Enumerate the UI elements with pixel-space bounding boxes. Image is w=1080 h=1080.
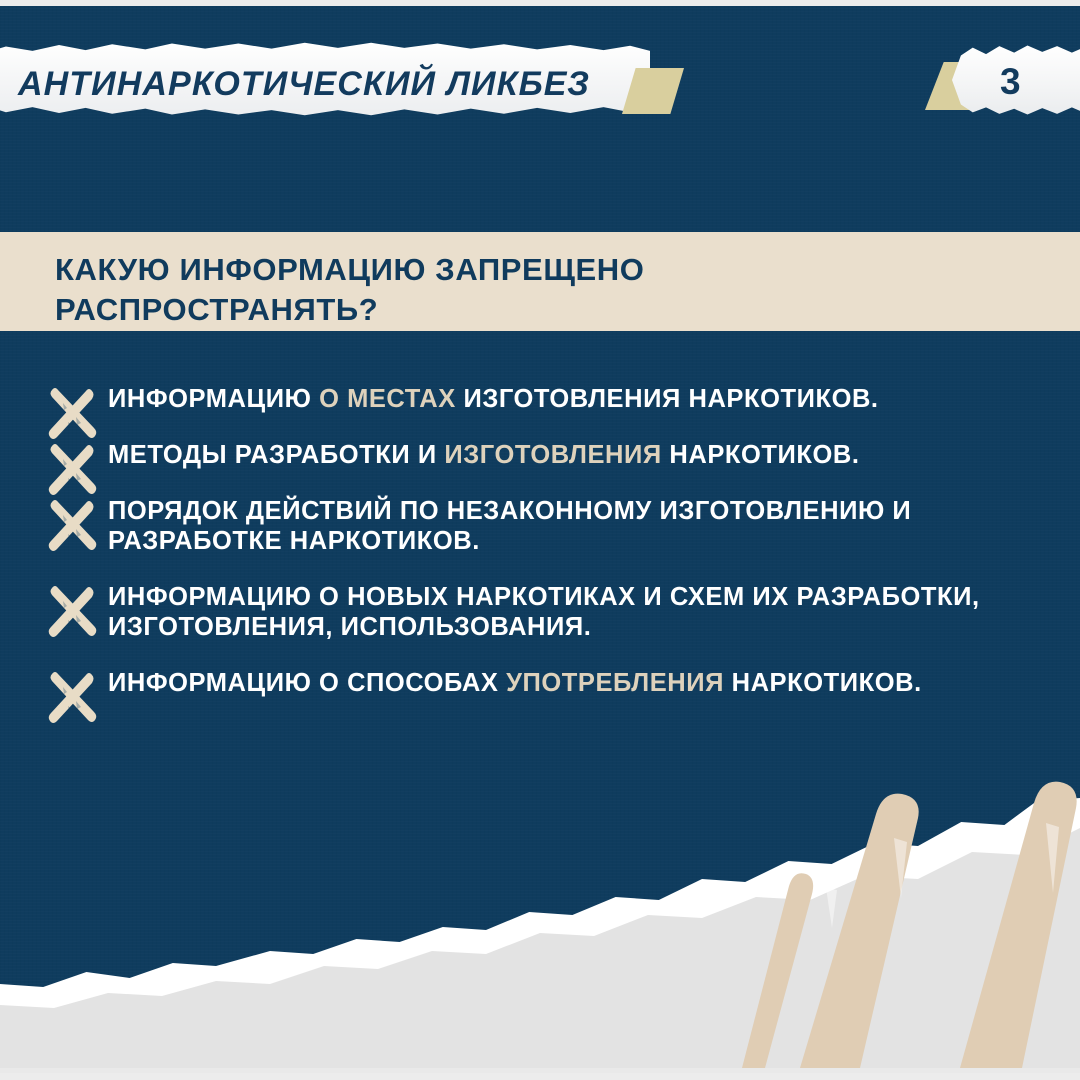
brush-x-icon [46, 442, 98, 498]
brush-x-icon [46, 498, 98, 554]
brush-x-icon [46, 386, 98, 442]
highlighted-phrase: УПОТРЕБЛЕНИЯ [506, 669, 732, 697]
list-item-text: ИНФОРМАЦИЮ О НОВЫХ НАРКОТИКАХ И СХЕМ ИХ … [108, 582, 1036, 642]
list-item: ПОРЯДОК ДЕЙСТВИЙ ПО НЕЗАКОННОМУ ИЗГОТОВЛ… [46, 496, 1036, 556]
list-item: ИНФОРМАЦИЮ О МЕСТАХ ИЗГОТОВЛЕНИЯ НАРКОТИ… [46, 384, 1036, 414]
plain-phrase: ПОРЯДОК ДЕЙСТВИЙ ПО НЕЗАКОННОМУ ИЗГОТОВЛ… [108, 497, 911, 555]
brush-x-icon [46, 584, 98, 640]
plain-phrase: ИНФОРМАЦИЮ [108, 385, 319, 413]
plain-phrase: НАРКОТИКОВ. [669, 441, 859, 469]
plain-phrase: ИНФОРМАЦИЮ О НОВЫХ НАРКОТИКАХ И СХЕМ ИХ … [108, 583, 980, 641]
highlighted-phrase: ИЗГОТОВЛЕНИЯ [444, 441, 669, 469]
section-title: КАКУЮ ИНФОРМАЦИЮ ЗАПРЕЩЕНО РАСПРОСТРАНЯТ… [55, 250, 1015, 330]
list-item-text: ИНФОРМАЦИЮ О МЕСТАХ ИЗГОТОВЛЕНИЯ НАРКОТИ… [108, 384, 1036, 414]
list-item-text: ПОРЯДОК ДЕЙСТВИЙ ПО НЕЗАКОННОМУ ИЗГОТОВЛ… [108, 496, 1036, 556]
list-item-text: ИНФОРМАЦИЮ О СПОСОБАХ УПОТРЕБЛЕНИЯ НАРКО… [108, 668, 1036, 698]
brush-x-icon [46, 670, 98, 726]
list-item: МЕТОДЫ РАЗРАБОТКИ И ИЗГОТОВЛЕНИЯ НАРКОТИ… [46, 440, 1036, 470]
list-item: ИНФОРМАЦИЮ О СПОСОБАХ УПОТРЕБЛЕНИЯ НАРКО… [46, 668, 1036, 698]
bottom-torn-paper [0, 768, 1080, 1068]
plain-phrase: МЕТОДЫ РАЗРАБОТКИ И [108, 441, 444, 469]
highlighted-phrase: О МЕСТАХ [319, 385, 463, 413]
plain-phrase: НАРКОТИКОВ. [732, 669, 922, 697]
plain-phrase: ИНФОРМАЦИЮ О СПОСОБАХ [108, 669, 506, 697]
page-title: АНТИНАРКОТИЧЕСКИЙ ЛИКБЕЗ [18, 62, 638, 106]
plain-phrase: ИЗГОТОВЛЕНИЯ НАРКОТИКОВ. [463, 385, 878, 413]
navy-canvas: АНТИНАРКОТИЧЕСКИЙ ЛИКБЕЗ 3 КАКУЮ ИНФОРМА… [0, 6, 1080, 1068]
prohibited-info-list: ИНФОРМАЦИЮ О МЕСТАХ ИЗГОТОВЛЕНИЯ НАРКОТИ… [46, 384, 1036, 724]
list-item-text: МЕТОДЫ РАЗРАБОТКИ И ИЗГОТОВЛЕНИЯ НАРКОТИ… [108, 440, 1036, 470]
page-number: 3 [1000, 60, 1060, 104]
list-item: ИНФОРМАЦИЮ О НОВЫХ НАРКОТИКАХ И СХЕМ ИХ … [46, 582, 1036, 642]
poster: АНТИНАРКОТИЧЕСКИЙ ЛИКБЕЗ 3 КАКУЮ ИНФОРМА… [0, 0, 1080, 1080]
section-title-line-2: РАСПРОСТРАНЯТЬ? [55, 290, 1015, 330]
section-title-line-1: КАКУЮ ИНФОРМАЦИЮ ЗАПРЕЩЕНО [55, 250, 1015, 290]
frame-bottom-edge [0, 1073, 1080, 1080]
